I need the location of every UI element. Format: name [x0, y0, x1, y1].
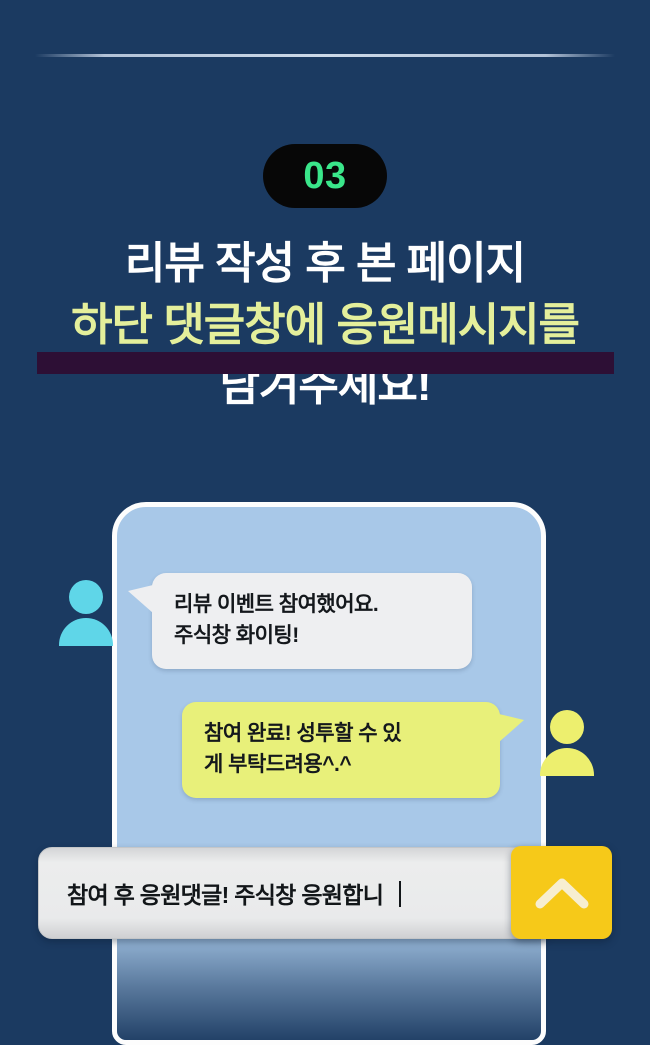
send-button[interactable]	[511, 846, 612, 939]
promo-page: 03 리뷰 작성 후 본 페이지 하단 댓글창에 응원메시지를 남겨주세요! 리…	[0, 0, 650, 1045]
message-line-1: 리뷰 이벤트 참여했어요.	[174, 589, 450, 620]
avatar-incoming	[56, 580, 116, 640]
person-icon	[69, 580, 103, 614]
step-badge: 03	[263, 144, 387, 208]
chevron-up-icon	[535, 876, 589, 910]
avatar-outgoing	[537, 710, 597, 770]
headline-highlight-bar	[37, 352, 614, 374]
step-number: 03	[303, 157, 346, 195]
bubble-tail-right-icon	[499, 714, 524, 742]
person-icon-body	[540, 748, 594, 776]
message-line-1: 참여 완료! 성투할 수 있	[204, 718, 478, 749]
top-divider	[35, 54, 615, 57]
bubble-tail-left-icon	[128, 585, 153, 613]
comment-input-text[interactable]: 참여 후 응원댓글! 주식창 응원합니	[39, 876, 401, 910]
headline-line-1: 리뷰 작성 후 본 페이지	[0, 233, 650, 294]
text-cursor	[399, 881, 401, 907]
message-bubble-incoming: 리뷰 이벤트 참여했어요. 주식창 화이팅!	[152, 573, 472, 669]
person-icon-body	[59, 618, 113, 646]
page-title: 리뷰 작성 후 본 페이지 하단 댓글창에 응원메시지를 남겨주세요!	[0, 233, 650, 416]
person-icon	[550, 710, 584, 744]
comment-input[interactable]: 참여 후 응원댓글! 주식창 응원합니	[38, 847, 552, 939]
message-bubble-outgoing: 참여 완료! 성투할 수 있 게 부탁드려용^.^	[182, 702, 500, 798]
comment-input-value[interactable]: 참여 후 응원댓글! 주식창 응원합니	[67, 882, 383, 908]
headline-line-2: 하단 댓글창에 응원메시지를	[0, 294, 650, 355]
message-line-2: 게 부탁드려용^.^	[204, 749, 478, 780]
message-line-2: 주식창 화이팅!	[174, 620, 450, 651]
